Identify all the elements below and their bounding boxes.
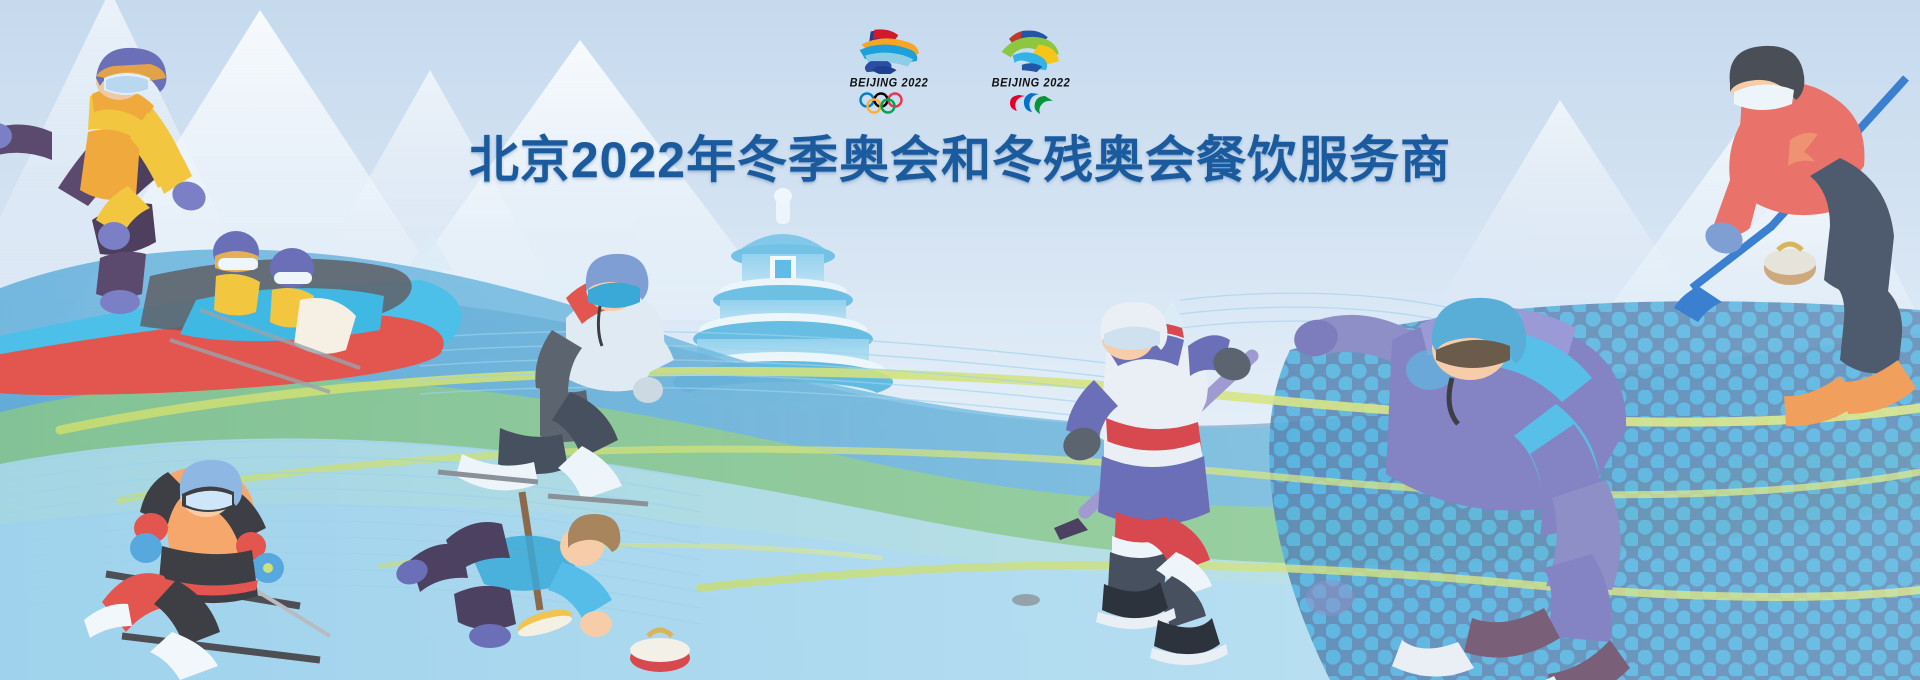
olympic-banner: BEIJING 2022 BEIJING 2022: [0, 0, 1920, 680]
flying-high-icon: [985, 26, 1077, 74]
winter-dream-icon: [843, 26, 935, 74]
hockey-puck: [1012, 594, 1040, 606]
beijing-2022-olympic-emblem: BEIJING 2022: [839, 26, 939, 114]
emblem-row: BEIJING 2022 BEIJING 2022: [839, 26, 1081, 114]
paralympic-agitos-icon: [1001, 92, 1061, 114]
page-title: 北京2022年冬季奥会和冬残奥会餐饮服务商: [0, 120, 1920, 192]
olympic-rings-icon: [856, 92, 922, 114]
olympic-wordmark: BEIJING 2022: [850, 76, 929, 89]
paralympic-wordmark: BEIJING 2022: [992, 76, 1071, 89]
beijing-2022-paralympic-emblem: BEIJING 2022: [981, 26, 1081, 114]
